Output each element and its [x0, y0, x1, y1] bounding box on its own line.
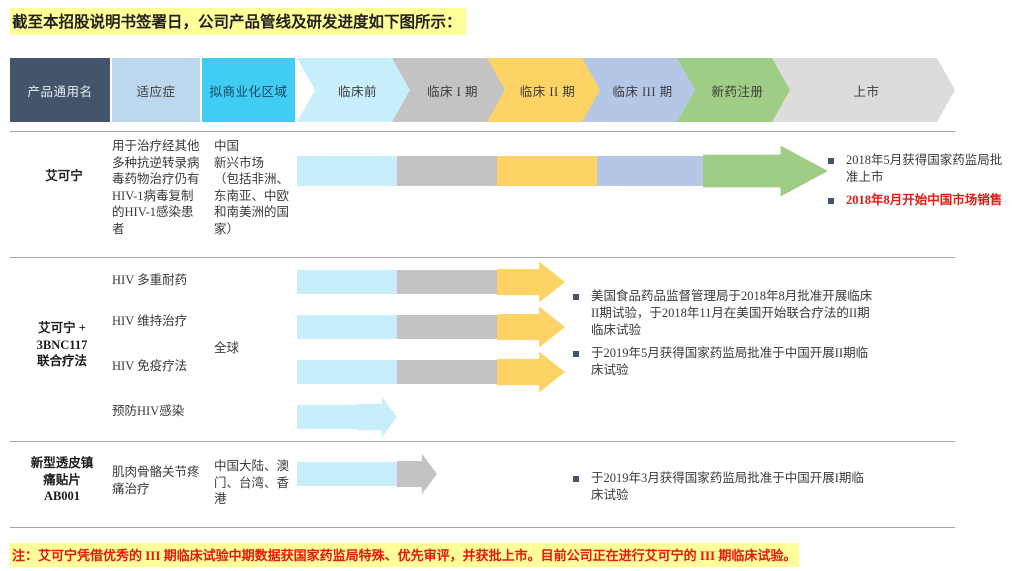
stage-2: 适应症 — [112, 58, 200, 122]
progress-bar — [297, 405, 397, 429]
progress-bar — [297, 462, 437, 486]
progress-segment — [397, 360, 497, 384]
progress-bar — [297, 156, 828, 186]
row-divider — [10, 527, 955, 528]
progress-segment — [397, 315, 497, 339]
product-name: 新型透皮镇痛贴片AB001 — [14, 455, 110, 505]
progress-segment — [397, 156, 497, 186]
progress-arrow-head — [497, 307, 565, 348]
progress-arrow-head — [357, 397, 397, 438]
milestone-text: 2018年8月开始中国市场销售 — [846, 192, 1002, 209]
stage-label: 拟商业化区域 — [209, 81, 287, 100]
footnote: 注：艾可宁凭借优秀的 III 期临床试验中期数据获国家药监局特殊、优先审评，并获… — [10, 543, 799, 567]
milestone-text: 于2019年3月获得国家药监局批准于中国开展I期临床试验 — [591, 470, 873, 504]
progress-arrow-head — [497, 262, 565, 303]
milestone-text: 于2019年5月获得国家药监局批准于中国开展II期临床试验 — [591, 345, 873, 379]
indication-text: 肌肉骨骼关节疼痛治疗 — [112, 464, 207, 497]
page-title: 截至本招股说明书签署日，公司产品管线及研发进度如下图所示： — [10, 8, 466, 35]
region-text: 中国新兴市场（包括非洲、东南亚、中欧和南美洲的国家） — [214, 138, 296, 237]
bullet-square-icon — [573, 476, 579, 482]
region-text: 全球 — [214, 340, 296, 357]
stage-label: 临床前 — [332, 81, 377, 100]
row-divider — [10, 257, 955, 258]
stage-4: 临床前 — [297, 58, 412, 122]
indication-text: HIV 多重耐药 — [112, 272, 212, 289]
progress-segment — [397, 270, 497, 294]
stage-label: 产品通用名 — [27, 81, 92, 100]
milestone-bullet: 2018年5月获得国家药监局批准上市 — [828, 152, 1008, 186]
progress-arrow-head — [497, 352, 565, 393]
progress-bar — [297, 270, 565, 294]
progress-segment — [597, 156, 703, 186]
progress-segment — [297, 360, 397, 384]
stage-label: 适应症 — [136, 81, 175, 100]
stage-label: 上市 — [847, 81, 879, 100]
stage-3: 拟商业化区域 — [202, 58, 295, 122]
row-divider — [10, 131, 955, 132]
stage-1: 产品通用名 — [10, 58, 110, 122]
progress-bar — [297, 360, 565, 384]
stage-header: 产品通用名适应症拟商业化区域临床前临床 I 期临床 II 期临床 III 期新药… — [0, 58, 1015, 122]
progress-segment — [497, 156, 597, 186]
bullet-square-icon — [573, 351, 579, 357]
indication-text: HIV 维持治疗 — [112, 313, 212, 330]
milestone-bullet: 于2019年3月获得国家药监局批准于中国开展I期临床试验 — [573, 470, 873, 504]
indication-text: HIV 免疫疗法 — [112, 358, 212, 375]
progress-segment — [297, 315, 397, 339]
indication-text: 预防HIV感染 — [112, 403, 212, 420]
progress-segment — [297, 462, 397, 486]
product-name: 艾可宁 — [18, 168, 110, 185]
milestone-text: 2018年5月获得国家药监局批准上市 — [846, 152, 1008, 186]
stage-label: 临床 I 期 — [421, 81, 478, 100]
progress-arrow-head — [703, 146, 828, 197]
progress-segment — [297, 156, 397, 186]
bullet-square-icon — [828, 198, 834, 204]
stage-label: 新药注册 — [705, 81, 763, 100]
milestone-bullet: 2018年8月开始中国市场销售 — [828, 192, 1008, 209]
progress-bar — [297, 315, 565, 339]
milestone-bullet: 美国食品药品监督管理局于2018年8月批准开展临床II期试验，于2018年11月… — [573, 288, 873, 339]
stage-label: 临床 III 期 — [606, 81, 672, 100]
bullet-square-icon — [573, 294, 579, 300]
stage-label: 临床 II 期 — [514, 81, 576, 100]
row-divider — [10, 441, 955, 442]
progress-segment — [297, 405, 357, 429]
milestone-text: 美国食品药品监督管理局于2018年8月批准开展临床II期试验，于2018年11月… — [591, 288, 873, 339]
milestone-bullet: 于2019年5月获得国家药监局批准于中国开展II期临床试验 — [573, 345, 873, 379]
region-text: 中国大陆、澳门、台湾、香港 — [214, 458, 296, 508]
product-name: 艾可宁 +3BNC117联合疗法 — [14, 320, 110, 370]
progress-arrow-head — [397, 454, 437, 495]
stage-9: 上市 — [772, 58, 955, 122]
indication-text: 用于治疗经其他多种抗逆转录病毒药物治疗仍有HIV-1病毒复制的HIV-1感染患者 — [112, 138, 200, 237]
progress-segment — [297, 270, 397, 294]
bullet-square-icon — [828, 158, 834, 164]
